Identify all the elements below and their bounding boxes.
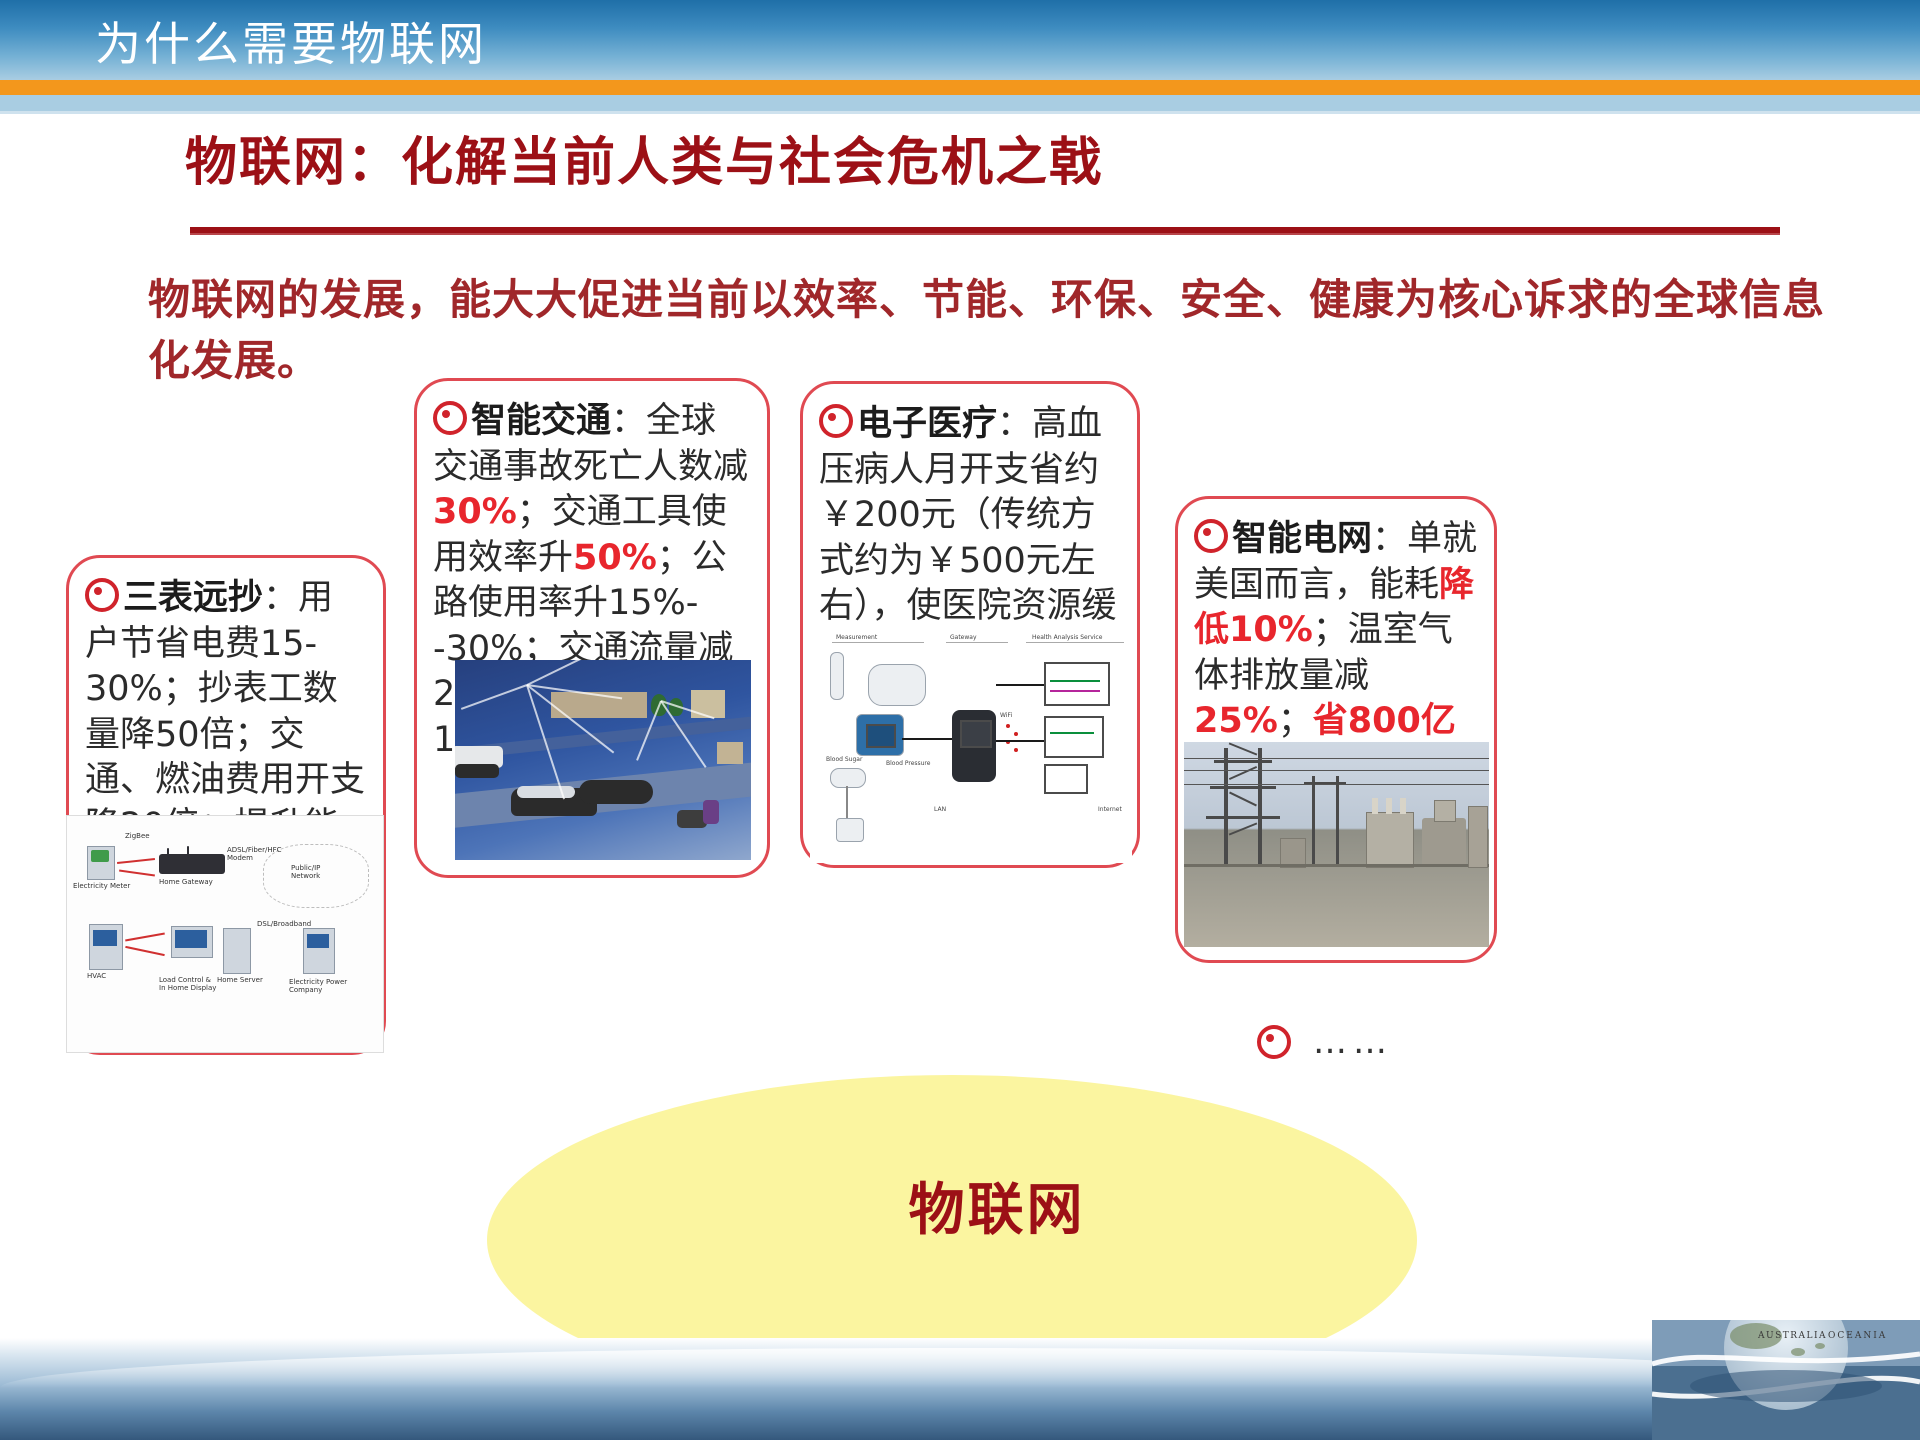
target-bullet-icon [1194, 519, 1228, 553]
card-smart-meter-heading: 三表远抄 [123, 578, 263, 618]
target-bullet-icon [85, 578, 119, 612]
ellipsis-label: …… [1313, 1022, 1393, 1062]
card-grid-seg-3: 25% [1194, 701, 1278, 741]
card-smart-grid-heading: 智能电网 [1232, 519, 1372, 559]
globe-on-water-logo: AUSTRALIA OCEANIA [1652, 1320, 1920, 1440]
card-smart-meter-colon: ： [263, 578, 298, 618]
lead-paragraph: 物联网的发展，能大大促进当前以效率、节能、环保、安全、健康为核心诉求的全球信息化… [148, 270, 1848, 392]
target-bullet-icon [1257, 1025, 1291, 1059]
more-items-indicator: …… [1257, 1022, 1393, 1062]
card-transport-seg-3: 50% [573, 538, 657, 578]
slide-title: 物联网：化解当前人类与社会危机之戟 [185, 120, 1103, 195]
card-grid-seg-4: ； [1278, 701, 1313, 741]
nav-title: 为什么需要物联网 [95, 8, 487, 74]
title-divider [190, 227, 1780, 235]
svg-text:AUSTRALIA: AUSTRALIA [1757, 1331, 1827, 1341]
svg-text:OCEANIA: OCEANIA [1828, 1331, 1887, 1341]
ehealth-device-gateway-diagram: Measurement Gateway Health Analysis Serv… [810, 628, 1132, 863]
card-smart-grid-colon: ： [1372, 519, 1407, 559]
card-intelligent-transport-heading: 智能交通 [471, 401, 611, 441]
header-orange-stripe [0, 80, 1920, 95]
header-light-stripe [0, 95, 1920, 111]
card-grid-seg-5: 省800亿 [1313, 701, 1456, 741]
card-intelligent-transport-colon: ： [611, 401, 646, 441]
card-transport-seg-1: 30% [433, 492, 517, 532]
iot-center-label: 物联网 [909, 1165, 1086, 1246]
target-bullet-icon [819, 404, 853, 438]
card-ehealth-heading: 电子医疗 [857, 404, 997, 444]
target-bullet-icon [433, 401, 467, 435]
card-ehealth-colon: ： [997, 404, 1032, 444]
footer-wave [0, 1338, 1920, 1440]
smart-meter-home-network-diagram: Public/IPNetwork Electricity Meter Home … [66, 815, 384, 1053]
intelligent-transportation-network-photo [455, 660, 751, 860]
header-thin-line [0, 111, 1920, 114]
electric-power-substation-photo [1184, 742, 1489, 947]
